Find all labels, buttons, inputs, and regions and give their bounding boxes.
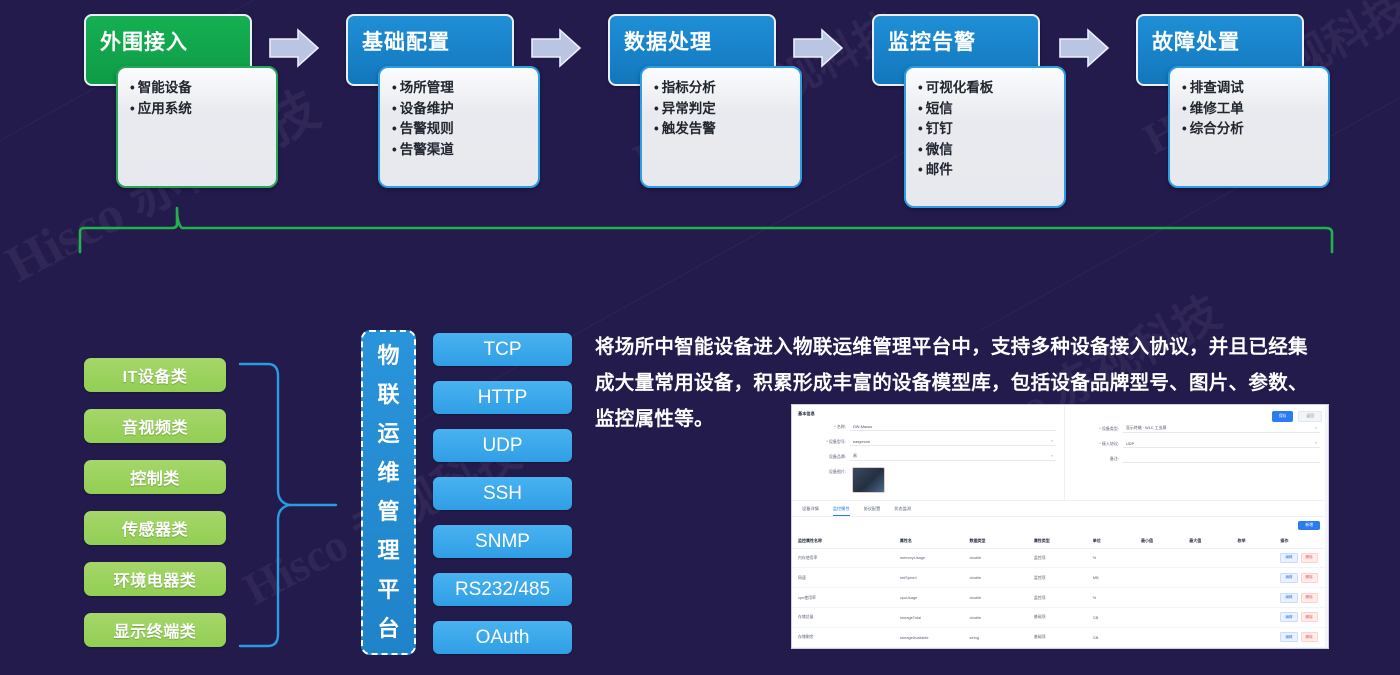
table-cell xyxy=(1135,588,1183,608)
divider xyxy=(792,516,1328,517)
platform-char: 理 xyxy=(377,540,399,562)
category-chip[interactable]: 显示终端类 xyxy=(84,613,226,647)
table-cell: double xyxy=(964,548,1028,568)
tab-device-detail[interactable]: 设备详情 xyxy=(802,506,819,516)
table-cell xyxy=(1231,568,1274,588)
chevron-down-icon: ▾ xyxy=(1315,426,1317,430)
device-form-panel: 基本信息 * 名称: DW-Maxus * 设备型号: easymore▾ 设备… xyxy=(792,405,1328,501)
protocol-chip-udp[interactable]: UDP xyxy=(433,429,572,462)
table-toolbar: 新增 xyxy=(792,521,1328,534)
table-cell: 基础项 xyxy=(1028,607,1087,627)
embedded-app-screenshot[interactable]: 基本信息 * 名称: DW-Maxus * 设备型号: easymore▾ 设备… xyxy=(791,404,1329,649)
protocol-chip-snmp[interactable]: SNMP xyxy=(433,525,572,558)
table-cell xyxy=(1135,548,1183,568)
protocol-select[interactable]: UDP▾ xyxy=(1123,439,1320,448)
flow-step-title: 监控告警 xyxy=(888,31,976,54)
required-mark: * xyxy=(826,439,828,444)
table-cell xyxy=(1183,627,1231,647)
flow-step-item: 可视化看板 xyxy=(918,78,1054,99)
table-cell xyxy=(1183,548,1231,568)
edit-row-button[interactable]: 编辑 xyxy=(1280,632,1297,642)
table-cell xyxy=(1135,627,1183,647)
flow-step-5[interactable]: 故障处置 排查调试 维修工单 综合分析 xyxy=(1136,14,1304,86)
platform-char: 维 xyxy=(377,462,399,484)
form-row-device-type: * 设备类型: 显示终端 · WLC 工业屏▾ xyxy=(1071,424,1320,433)
tab-monitor-attributes[interactable]: 监控属性 xyxy=(833,506,850,516)
flow-step-1[interactable]: 外围接入 智能设备 应用系统 xyxy=(84,14,252,86)
edit-row-button[interactable]: 编辑 xyxy=(1280,612,1297,622)
flow-step-item: 钉钉 xyxy=(918,119,1054,140)
row-actions-cell: 编辑删除 xyxy=(1274,647,1328,649)
name-input[interactable]: DW-Maxus xyxy=(850,422,1056,431)
table-cell: 内存使用率 xyxy=(792,548,894,568)
required-mark: * xyxy=(1099,426,1101,431)
slide-canvas: Hisco 赤视科技 Hisco 赤视科技 Hisco 赤视科技 Hisco 赤… xyxy=(0,0,1400,675)
row-actions-cell: 编辑删除 xyxy=(1274,588,1328,608)
col-attr-type: 属性类型 xyxy=(1028,534,1087,549)
field-label: 备注: xyxy=(1071,456,1123,462)
flow-step-title: 基础配置 xyxy=(362,31,450,54)
table-cell: memoryTotal xyxy=(894,647,964,649)
device-category-list: IT设备类 音视频类 控制类 传感器类 环境电器类 显示终端类 xyxy=(84,358,226,664)
flow-step-3[interactable]: 数据处理 指标分析 异常判定 触发告警 xyxy=(608,14,776,86)
protocol-chip-http[interactable]: HTTP xyxy=(433,381,572,414)
table-cell xyxy=(1183,647,1231,649)
flow-step-item: 告警渠道 xyxy=(392,140,528,161)
table-body: 内存使用率memoryUsagedouble监控项%编辑删除网速netSpeed… xyxy=(792,548,1328,649)
chevron-down-icon: ▾ xyxy=(1315,441,1317,445)
table-cell: 存储总量 xyxy=(792,607,894,627)
platform-char: 平 xyxy=(377,579,399,601)
col-unit: 单位 xyxy=(1087,534,1135,549)
col-data-type: 数据类型 xyxy=(964,534,1028,549)
table-row[interactable]: cpu使用率cpuUsagedouble监控项%编辑删除 xyxy=(792,588,1328,608)
field-label: 设备品牌: xyxy=(798,454,850,460)
flow-step-item: 触发告警 xyxy=(654,119,790,140)
table-cell xyxy=(1135,647,1183,649)
remark-input[interactable] xyxy=(1123,454,1320,463)
field-label: * 设备型号: xyxy=(798,439,850,445)
form-row-brand: 设备品牌: 易▾ xyxy=(798,452,1056,461)
table-cell: 存储剩余 xyxy=(792,627,894,647)
col-actions: 操作 xyxy=(1274,534,1328,549)
required-mark: * xyxy=(834,424,836,429)
flow-step-item: 微信 xyxy=(918,140,1054,161)
table-row[interactable]: 存储剩余storageAvailablestring基础项GB编辑删除 xyxy=(792,627,1328,647)
table-cell: double xyxy=(964,607,1028,627)
table-cell: 基础项 xyxy=(1028,647,1087,649)
chevron-down-icon: ▾ xyxy=(1051,439,1053,443)
tab-protocol-config[interactable]: 协议配置 xyxy=(864,506,881,516)
model-select[interactable]: easymore▾ xyxy=(850,437,1056,446)
table-cell xyxy=(1231,548,1274,568)
form-row-model: * 设备型号: easymore▾ xyxy=(798,437,1056,446)
table-header-row: 监控属性名称 属性名 数据类型 属性类型 单位 最小值 最大值 枚举 操作 xyxy=(792,534,1328,549)
table-cell: 网速 xyxy=(792,568,894,588)
table-cell: netSpeed xyxy=(894,568,964,588)
flow-step-4[interactable]: 监控告警 可视化看板 短信 钉钉 微信 邮件 xyxy=(872,14,1040,86)
table-cell: GB xyxy=(1087,647,1135,649)
delete-row-button[interactable]: 删除 xyxy=(1301,612,1318,622)
tab-status-monitor[interactable]: 状态监测 xyxy=(894,506,911,516)
category-chip[interactable]: 环境电器类 xyxy=(84,562,226,596)
table-cell: cpuUsage xyxy=(894,588,964,608)
form-column-right: 保存 返回 * 设备类型: 显示终端 · WLC 工业屏▾ * 接入协议: UD… xyxy=(1064,405,1328,500)
platform-char: 管 xyxy=(377,501,399,523)
table-cell: double xyxy=(964,568,1028,588)
col-max: 最大值 xyxy=(1183,534,1231,549)
table-cell: % xyxy=(1087,588,1135,608)
table-cell xyxy=(1183,607,1231,627)
table-cell xyxy=(1231,607,1274,627)
device-type-select[interactable]: 显示终端 · WLC 工业屏▾ xyxy=(1123,424,1320,433)
edit-row-button[interactable]: 编辑 xyxy=(1280,593,1297,603)
table-cell: string xyxy=(964,627,1028,647)
form-row-protocol: * 接入协议: UDP▾ xyxy=(1071,439,1320,448)
table-cell xyxy=(1183,588,1231,608)
edit-row-button[interactable]: 编辑 xyxy=(1280,553,1297,563)
flow-step-title: 数据处理 xyxy=(624,31,712,54)
flow-step-item: 综合分析 xyxy=(1182,119,1318,140)
required-mark: * xyxy=(1099,441,1101,446)
table-cell xyxy=(1135,568,1183,588)
flow-step-body: 智能设备 应用系统 xyxy=(116,66,278,188)
flow-step-item: 指标分析 xyxy=(654,78,790,99)
field-label: * 名称: xyxy=(798,424,850,430)
col-attr-name: 监控属性名称 xyxy=(792,534,894,549)
delete-row-button[interactable]: 删除 xyxy=(1301,593,1318,603)
field-label: * 设备类型: xyxy=(1071,426,1123,432)
flow-step-body: 可视化看板 短信 钉钉 微信 邮件 xyxy=(904,66,1066,208)
row-actions-cell: 编辑删除 xyxy=(1274,607,1328,627)
chevron-down-icon: ▾ xyxy=(1051,454,1053,458)
flow-step-item: 短信 xyxy=(918,99,1054,120)
table-row[interactable]: 网速netSpeeddouble监控项MB编辑删除 xyxy=(792,568,1328,588)
table-cell: GB xyxy=(1087,607,1135,627)
table-cell: 基础项 xyxy=(1028,627,1087,647)
form-row-remark: 备注: xyxy=(1071,454,1320,463)
form-row-image: 设备图片: xyxy=(798,467,1056,495)
green-bracket-connector xyxy=(78,206,1336,254)
protocol-chip-tcp[interactable]: TCP xyxy=(433,333,572,366)
delete-row-button[interactable]: 删除 xyxy=(1301,573,1318,583)
row-actions-cell: 编辑删除 xyxy=(1274,548,1328,568)
table-cell: % xyxy=(1087,548,1135,568)
row-actions-cell: 编辑删除 xyxy=(1274,627,1328,647)
brand-select[interactable]: 易▾ xyxy=(850,452,1056,461)
table-cell: GB xyxy=(1087,627,1135,647)
flow-step-item: 设备维护 xyxy=(392,99,528,120)
col-enum: 枚举 xyxy=(1231,534,1274,549)
flow-step-body: 指标分析 异常判定 触发告警 xyxy=(640,66,802,188)
table-cell: storageTotal xyxy=(894,607,964,627)
category-chip[interactable]: 控制类 xyxy=(84,460,226,494)
table-cell: cpu使用率 xyxy=(792,588,894,608)
flow-step-2[interactable]: 基础配置 场所管理 设备维护 告警规则 告警渠道 xyxy=(346,14,514,86)
protocol-chip-rs232[interactable]: RS232/485 xyxy=(433,573,572,606)
form-row-name: * 名称: DW-Maxus xyxy=(798,422,1056,431)
delete-row-button[interactable]: 删除 xyxy=(1301,632,1318,642)
table-row[interactable]: 存储总量storageTotaldouble基础项GB编辑删除 xyxy=(792,607,1328,627)
col-prop-name: 属性名 xyxy=(894,534,964,549)
field-label: 设备图片: xyxy=(798,467,850,475)
arrow-right-icon xyxy=(268,28,320,68)
protocol-list: TCP HTTP UDP SSH SNMP RS232/485 OAuth xyxy=(433,333,572,669)
col-min: 最小值 xyxy=(1135,534,1183,549)
table-cell: 监控项 xyxy=(1028,548,1087,568)
table-cell: storageAvailable xyxy=(894,627,964,647)
flow-step-body: 场所管理 设备维护 告警规则 告警渠道 xyxy=(378,66,540,188)
flow-step-item: 异常判定 xyxy=(654,99,790,120)
brace-right-icon xyxy=(238,360,348,650)
table-cell xyxy=(1183,568,1231,588)
row-actions-cell: 编辑删除 xyxy=(1274,568,1328,588)
table-cell: memoryUsage xyxy=(894,548,964,568)
protocol-chip-ssh[interactable]: SSH xyxy=(433,477,572,510)
table-cell: string xyxy=(964,647,1028,649)
add-attribute-button[interactable]: 新增 xyxy=(1298,521,1320,530)
process-flow: 外围接入 智能设备 应用系统 基础配置 场所管理 设备维护 告警规则 xyxy=(0,0,1400,200)
table-cell: 内存总量 xyxy=(792,647,894,649)
category-chip[interactable]: IT设备类 xyxy=(84,358,226,392)
arrow-right-icon xyxy=(530,28,582,68)
form-action-buttons: 保存 返回 xyxy=(1272,411,1322,422)
category-chip[interactable]: 传感器类 xyxy=(84,511,226,545)
flow-step-title: 故障处置 xyxy=(1152,31,1240,54)
platform-char: 台 xyxy=(377,618,399,640)
table-cell: 监控项 xyxy=(1028,588,1087,608)
back-button[interactable]: 返回 xyxy=(1298,411,1322,422)
table-row[interactable]: 内存使用率memoryUsagedouble监控项%编辑删除 xyxy=(792,548,1328,568)
flow-step-item: 智能设备 xyxy=(130,78,266,99)
flow-step-item: 应用系统 xyxy=(130,99,266,120)
section-title: 基本信息 xyxy=(798,411,1056,417)
table-cell xyxy=(1231,627,1274,647)
flow-step-item: 告警规则 xyxy=(392,119,528,140)
flow-step-item: 维修工单 xyxy=(1182,99,1318,120)
table-cell xyxy=(1135,607,1183,627)
detail-tabs: 设备详情 监控属性 协议配置 状态监测 xyxy=(792,501,1328,516)
form-column-left: 基本信息 * 名称: DW-Maxus * 设备型号: easymore▾ 设备… xyxy=(792,405,1064,500)
platform-vertical-label: 物 联 运 维 管 理 平 台 xyxy=(361,330,416,655)
platform-char: 物 xyxy=(377,345,399,367)
platform-char: 联 xyxy=(377,384,399,406)
platform-char: 运 xyxy=(377,423,399,445)
flow-step-item: 邮件 xyxy=(918,160,1054,181)
table-cell: MB xyxy=(1087,568,1135,588)
edit-row-button[interactable]: 编辑 xyxy=(1280,573,1297,583)
flow-step-item: 排查调试 xyxy=(1182,78,1318,99)
delete-row-button[interactable]: 删除 xyxy=(1301,553,1318,563)
arrow-right-icon xyxy=(1058,28,1110,68)
flow-step-item: 场所管理 xyxy=(392,78,528,99)
flow-step-body: 排查调试 维修工单 综合分析 xyxy=(1168,66,1330,188)
table-cell xyxy=(1231,647,1274,649)
attributes-table: 监控属性名称 属性名 数据类型 属性类型 单位 最小值 最大值 枚举 操作 内存… xyxy=(792,534,1328,649)
field-label: * 接入协议: xyxy=(1071,441,1123,447)
table-cell: double xyxy=(964,588,1028,608)
table-cell: 监控项 xyxy=(1028,568,1087,588)
category-chip[interactable]: 音视频类 xyxy=(84,409,226,443)
protocol-chip-oauth[interactable]: OAuth xyxy=(433,621,572,654)
save-button[interactable]: 保存 xyxy=(1272,411,1294,422)
arrow-right-icon xyxy=(792,28,844,68)
table-row[interactable]: 内存总量memoryTotalstring基础项GB编辑删除 xyxy=(792,647,1328,649)
flow-step-title: 外围接入 xyxy=(100,31,188,54)
device-image-thumbnail[interactable] xyxy=(852,467,885,493)
table-cell xyxy=(1231,588,1274,608)
